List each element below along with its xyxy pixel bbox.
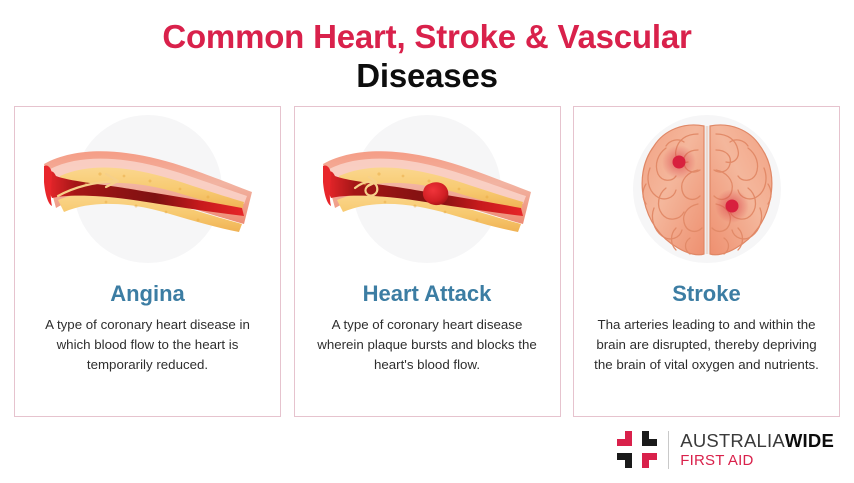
logo-brand-name: AUSTRALIAWIDE	[680, 430, 834, 451]
disease-card-row: Angina A type of coronary heart disease …	[14, 106, 840, 417]
card-heading-angina: Angina	[110, 281, 185, 307]
page-title-line-1: Common Heart, Stroke & Vascular	[0, 18, 854, 57]
logo-divider	[668, 431, 669, 469]
brain-stroke-icon	[632, 120, 782, 262]
disease-card-angina[interactable]: Angina A type of coronary heart disease …	[14, 106, 281, 417]
brand-logo[interactable]: AUSTRALIAWIDE FIRST AID	[615, 427, 834, 473]
card-heading-stroke: Stroke	[672, 281, 740, 307]
heart-attack-illustration	[295, 107, 560, 275]
card-heading-heart-attack: Heart Attack	[363, 281, 492, 307]
stroke-illustration	[574, 107, 839, 275]
logo-tagline: FIRST AID	[680, 452, 834, 469]
narrowed-artery-icon	[38, 136, 258, 246]
page-title: Common Heart, Stroke & Vascular Diseases	[0, 0, 854, 96]
card-body-angina: A type of coronary heart disease in whic…	[15, 315, 280, 376]
card-body-stroke: Tha arteries leading to and within the b…	[574, 315, 839, 376]
page-title-line-2: Diseases	[0, 57, 854, 96]
stroke-point-left	[672, 156, 685, 169]
logo-brand-name-bold: WIDE	[785, 430, 834, 451]
angina-illustration	[15, 107, 280, 275]
blocked-artery-clot-icon	[317, 136, 537, 246]
card-body-heart-attack: A type of coronary heart disease wherein…	[295, 315, 560, 376]
disease-card-stroke[interactable]: Stroke Tha arteries leading to and withi…	[573, 106, 840, 417]
australia-wide-cross-icon	[615, 429, 659, 471]
logo-brand-name-light: AUSTRALIA	[680, 430, 785, 451]
logo-wordmark: AUSTRALIAWIDE FIRST AID	[680, 430, 834, 469]
stroke-point-right	[725, 200, 738, 213]
disease-card-heart-attack[interactable]: Heart Attack A type of coronary heart di…	[294, 106, 561, 417]
